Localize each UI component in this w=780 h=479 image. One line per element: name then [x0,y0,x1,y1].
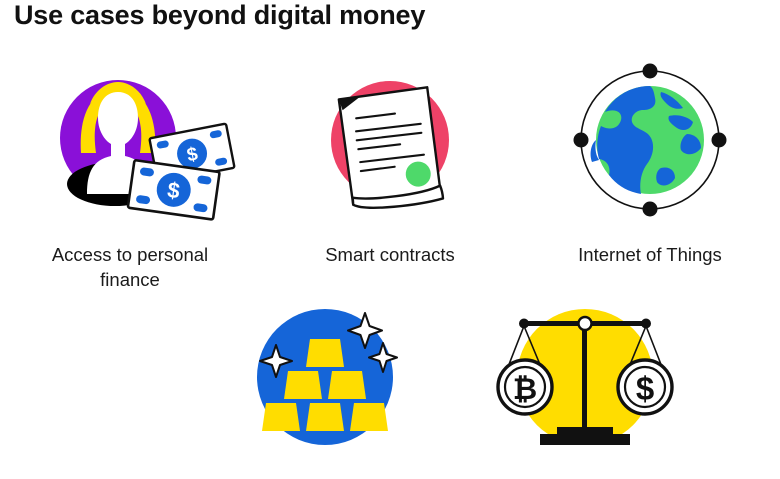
bitcoin-symbol: ₿ [513,372,537,407]
dollar-symbol: $ [636,370,654,407]
balance-scale-bitcoin-dollar-icon: ₿ $ [500,305,670,465]
page-title: Use cases beyond digital money [14,0,425,31]
tile-label-internet-of-things: Internet of Things [578,242,722,267]
orbit-node-top [643,64,658,79]
tile-gold-bars[interactable] [195,305,455,479]
tile-row-bottom: ₿ $ [0,305,780,479]
orbit-node-right [712,133,727,148]
globe-orbit-icon [565,68,735,228]
tile-row-top: $ $ [0,68,780,292]
person-with-banknotes-icon: $ $ [45,68,215,228]
orbit-node-bottom [643,202,658,217]
tile-internet-of-things[interactable]: Internet of Things [520,68,780,292]
tile-label-smart-contracts: Smart contracts [325,242,455,267]
row-bottom-spacer [0,305,195,479]
tile-access-to-personal-finance[interactable]: $ $ [0,68,260,292]
beam-pivot [579,317,592,330]
contract-document-icon [305,68,475,228]
gold-bars-icon [240,305,410,465]
tile-bitcoin-dollar-scale[interactable]: ₿ $ [455,305,715,479]
tile-label-access-to-personal-finance: Access to personal finance [28,242,233,292]
orbit-node-left [574,133,589,148]
infographic-page: Use cases beyond digital money [0,0,780,470]
tile-smart-contracts[interactable]: Smart contracts [260,68,520,292]
